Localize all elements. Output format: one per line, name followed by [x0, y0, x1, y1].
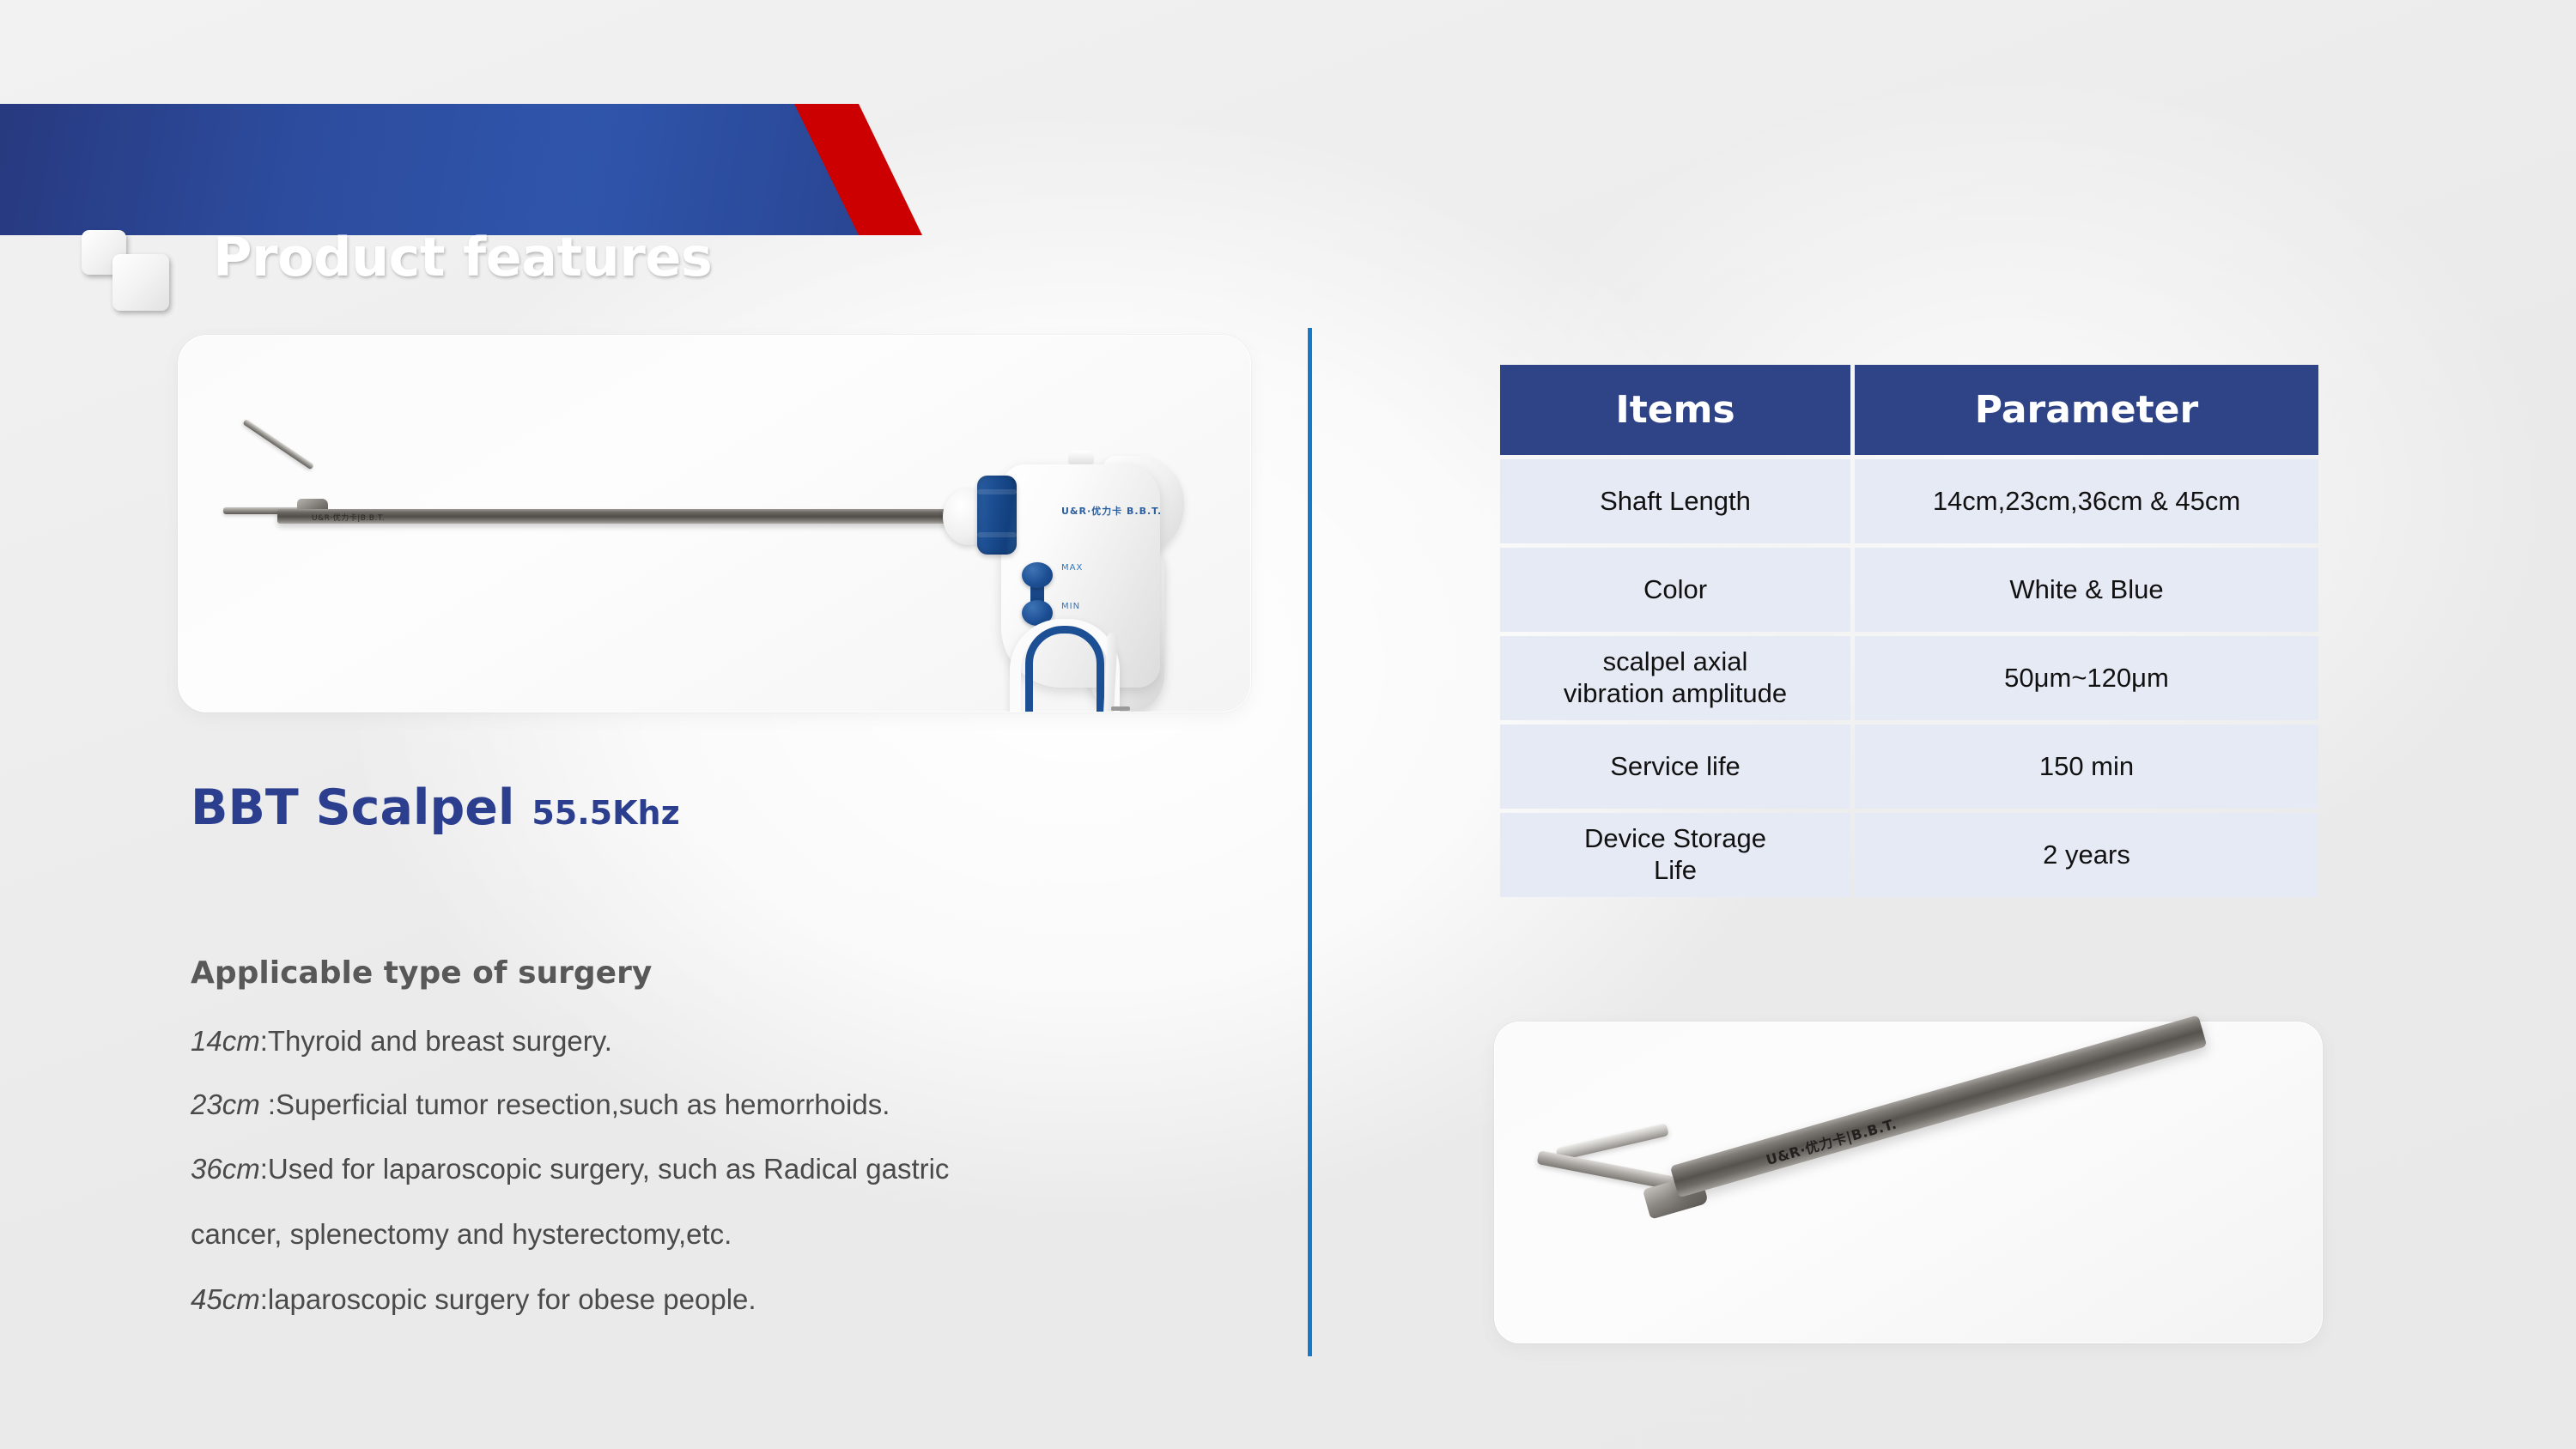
section-title: Product features [213, 231, 712, 284]
bullet-description: :Used for laparoscopic surgery, such as … [260, 1153, 950, 1185]
bullet-length-label: 14cm [191, 1025, 260, 1057]
bullet-length-label: 36cm [191, 1153, 260, 1185]
two-squares-logo-icon [82, 227, 185, 319]
bullet-length-label: 23cm [191, 1088, 260, 1120]
bullet-description: :laparoscopic surgery for obese people. [260, 1283, 756, 1315]
product-title-main: BBT Scalpel [191, 779, 514, 836]
column-header-items: Items [1500, 365, 1850, 455]
scalpel-jaw-upper [242, 419, 314, 470]
tip-shaft-engraving: U&R·优力卡|B.B.T. [1764, 1113, 1899, 1169]
table-row: scalpel axialvibration amplitude50μm~120… [1500, 636, 2318, 720]
column-header-parameter: Parameter [1855, 365, 2318, 455]
shaft-engraving-text: U&R·优力卡|B.B.T. [312, 512, 385, 523]
rotation-collar-blue [977, 476, 1017, 555]
cell-parameter: 150 min [1855, 724, 2318, 809]
trigger-notch-1 [1111, 706, 1130, 711]
banner-blue-shape [0, 104, 859, 235]
surgery-bullet-14cm: 14cm:Thyroid and breast surgery. [191, 1027, 612, 1055]
product-image-card: U&R·优力卡|B.B.T. U&R·优力卡 B.B.T. MAX MIN [178, 335, 1251, 712]
bullet-description: cancer, splenectomy and hysterectomy,etc… [191, 1218, 732, 1250]
max-label: MAX [1061, 563, 1083, 573]
cell-item: Shaft Length [1500, 459, 1850, 543]
surgery-bullet-45cm: 45cm:laparoscopic surgery for obese peop… [191, 1285, 756, 1313]
cell-item: Service life [1500, 724, 1850, 809]
tip-blade-upper [1556, 1123, 1669, 1161]
shaft-tip-illustration: U&R·优力卡|B.B.T. [1494, 1022, 2336, 1343]
bullet-description: :Thyroid and breast surgery. [260, 1025, 612, 1057]
table-row: Service life150 min [1500, 724, 2318, 809]
max-power-button[interactable] [1022, 562, 1053, 588]
table-row: Shaft Length14cm,23cm,36cm & 45cm [1500, 459, 2318, 543]
cell-parameter: 14cm,23cm,36cm & 45cm [1855, 459, 2318, 543]
table-row: ColorWhite & Blue [1500, 548, 2318, 632]
ultrasonic-scalpel-illustration: U&R·优力卡|B.B.T. U&R·优力卡 B.B.T. MAX MIN [179, 336, 1250, 712]
specification-table: Items Parameter Shaft Length14cm,23cm,36… [1496, 361, 2323, 901]
tip-shaft-rod: U&R·优力卡|B.B.T. [1670, 1015, 2208, 1197]
handle-top-nub [1068, 451, 1094, 464]
bullet-description: :Superficial tumor resection,such as hem… [260, 1088, 890, 1120]
handle-brand-text: U&R·优力卡 B.B.T. [1061, 504, 1162, 518]
cell-item: scalpel axialvibration amplitude [1500, 636, 1850, 720]
cell-parameter: White & Blue [1855, 548, 2318, 632]
cell-parameter: 2 years [1855, 813, 2318, 897]
min-label: MIN [1061, 602, 1080, 611]
table-header-row: Items Parameter [1500, 365, 2318, 455]
scalpel-shaft: U&R·优力卡|B.B.T. [277, 509, 964, 524]
bullet-length-label: 45cm [191, 1283, 260, 1315]
trigger-loop-blue [1025, 626, 1104, 712]
vertical-divider [1308, 328, 1312, 1356]
product-title-frequency: 55.5Khz [532, 794, 679, 832]
cell-parameter: 50μm~120μm [1855, 636, 2318, 720]
page-title: BBT Scalpel 55.5Khz [191, 784, 680, 833]
cell-item: Device StorageLife [1500, 813, 1850, 897]
surgery-bullet-23cm: 23cm :Superficial tumor resection,such a… [191, 1090, 890, 1119]
surgery-bullet-36cm-continued: cancer, splenectomy and hysterectomy,etc… [191, 1220, 732, 1248]
table-row: Device StorageLife2 years [1500, 813, 2318, 897]
section-banner: Product features [0, 104, 922, 235]
cell-item: Color [1500, 548, 1850, 632]
logo-square-large [112, 254, 169, 311]
applicable-surgery-heading: Applicable type of surgery [191, 955, 652, 991]
surgery-bullet-36cm: 36cm:Used for laparoscopic surgery, such… [191, 1155, 949, 1183]
